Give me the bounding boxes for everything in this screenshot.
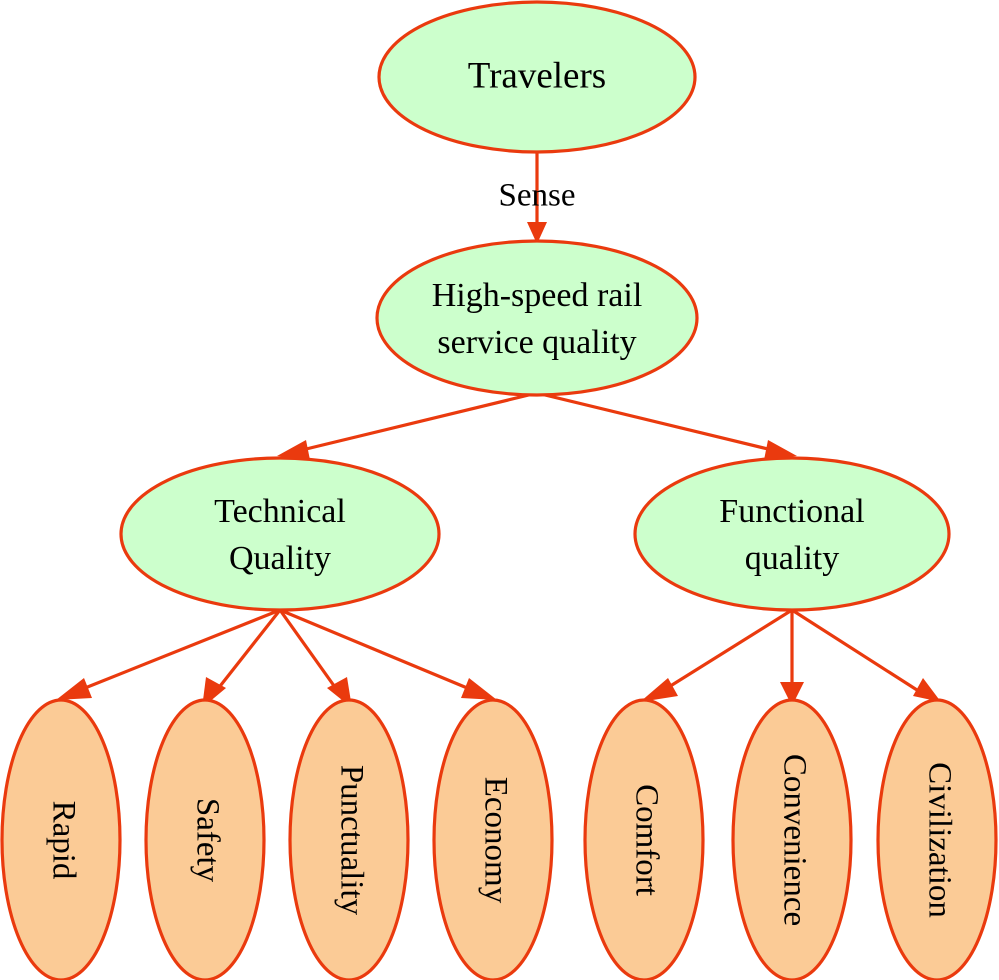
node-shape-hsr-service-quality[interactable]	[377, 241, 697, 395]
node-punctuality[interactable]: Punctuality	[290, 700, 408, 980]
edge-functional-to-convenience	[780, 610, 804, 706]
node-label-travelers: Travelers	[468, 55, 606, 96]
arrowhead-technical-to-economy	[461, 678, 497, 700]
node-economy[interactable]: Economy	[434, 700, 552, 980]
node-travelers[interactable]: Travelers	[379, 2, 695, 152]
node-label-rapid: Rapid	[45, 801, 81, 880]
edge-functional-to-civilization	[792, 610, 941, 702]
edges-layer: Sense	[56, 152, 941, 708]
node-rapid[interactable]: Rapid	[2, 700, 120, 980]
edge-functional-to-comfort	[640, 610, 792, 702]
arrowhead-functional-to-civilization	[913, 678, 941, 702]
diagram-canvas-container: Sense Travelers High-speed rail service …	[0, 0, 999, 980]
arrowhead-technical-to-rapid	[56, 678, 92, 700]
node-label-technical-line2: Quality	[229, 540, 331, 577]
edge-line-functional-to-comfort	[664, 610, 792, 690]
node-label-technical-line1: Technical	[214, 493, 346, 530]
node-civilization[interactable]: Civilization	[878, 700, 996, 980]
node-label-convenience: Convenience	[776, 754, 812, 926]
node-comfort[interactable]: Comfort	[585, 700, 703, 980]
edge-line-functional-to-civilization	[792, 610, 917, 690]
node-safety[interactable]: Safety	[146, 700, 264, 980]
node-shape-technical-quality[interactable]	[121, 458, 439, 610]
edge-label-sense: Sense	[499, 178, 576, 214]
node-label-punctuality: Punctuality	[333, 765, 369, 916]
node-label-economy: Economy	[477, 777, 513, 904]
node-functional-quality[interactable]: Functional quality	[635, 458, 949, 610]
node-label-safety: Safety	[189, 798, 225, 883]
node-label-hsr-line1: High-speed rail	[432, 277, 643, 314]
arrowhead-functional-to-comfort	[640, 678, 678, 702]
node-label-comfort: Comfort	[628, 784, 664, 896]
node-label-functional-line2: quality	[745, 540, 839, 577]
hierarchy-diagram: Sense Travelers High-speed rail service …	[0, 0, 999, 980]
node-technical-quality[interactable]: Technical Quality	[121, 458, 439, 610]
node-hsr-service-quality[interactable]: High-speed rail service quality	[377, 241, 697, 395]
node-label-civilization: Civilization	[921, 762, 957, 918]
node-label-hsr-line2: service quality	[437, 324, 636, 361]
node-convenience[interactable]: Convenience	[733, 700, 851, 980]
node-shape-functional-quality[interactable]	[635, 458, 949, 610]
node-label-functional-line1: Functional	[719, 493, 864, 530]
